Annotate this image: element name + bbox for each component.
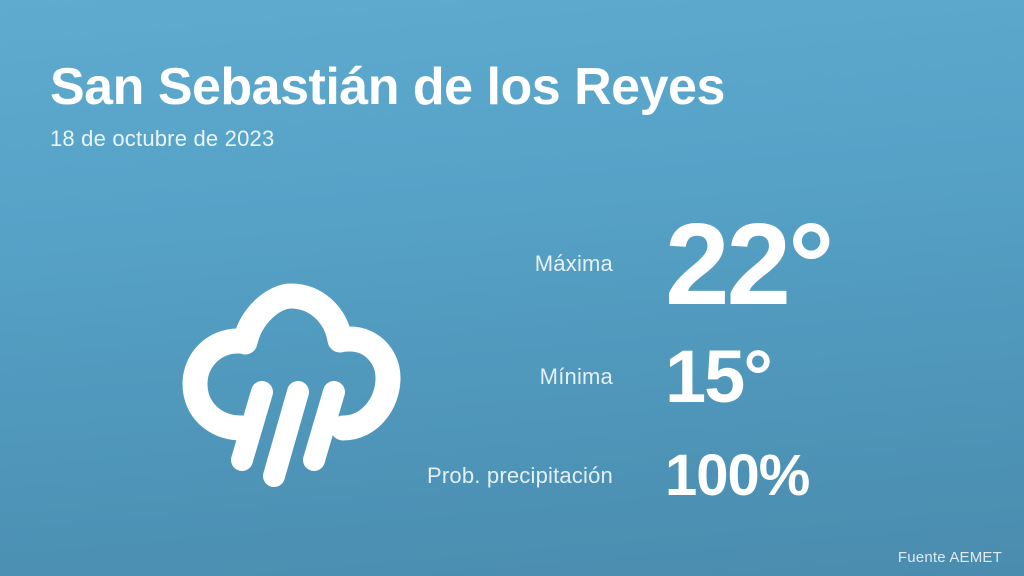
reading-row-min: Mínima 15° <box>400 323 990 431</box>
precipitation-value: 100% <box>665 447 809 505</box>
min-temp-label: Mínima <box>400 364 665 390</box>
weather-card: San Sebastián de los Reyes 18 de octubre… <box>0 0 1024 576</box>
max-temp-value: 22° <box>665 206 831 322</box>
reading-row-max: Máxima 22° <box>400 205 990 323</box>
precipitation-label: Prob. precipitación <box>400 463 665 489</box>
readings-list: Máxima 22° Mínima 15° Prob. precipitació… <box>400 205 990 521</box>
reading-row-precipitation: Prob. precipitación 100% <box>400 431 990 521</box>
forecast-date: 18 de octubre de 2023 <box>50 126 790 152</box>
source-attribution: Fuente AEMET <box>898 549 1002 566</box>
rain-cloud-icon <box>178 280 402 492</box>
city-title: San Sebastián de los Reyes <box>50 58 790 116</box>
card-header: San Sebastián de los Reyes 18 de octubre… <box>50 58 790 152</box>
min-temp-value: 15° <box>665 340 771 414</box>
max-temp-label: Máxima <box>400 251 665 277</box>
